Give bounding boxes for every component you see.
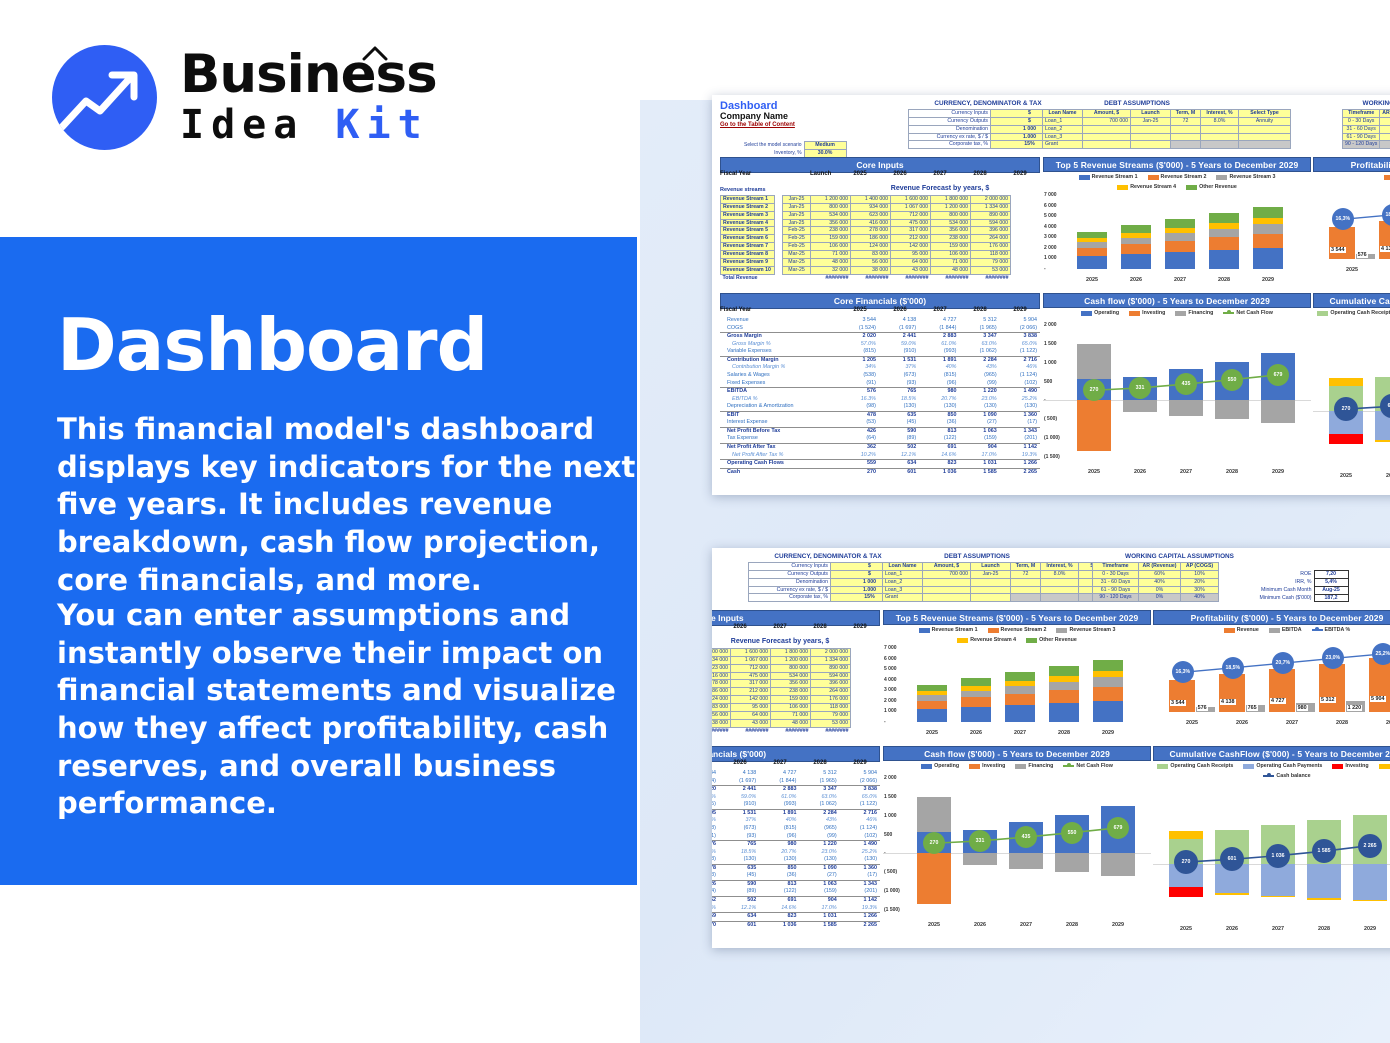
financial-value: 1 031 bbox=[799, 913, 839, 922]
kpi-label: Minimum Cash ($'000) bbox=[1252, 594, 1314, 602]
legend-swatch bbox=[1384, 175, 1390, 180]
fiscal-year-label-top: Fiscal Year bbox=[720, 171, 751, 177]
wc-cell[interactable]: 20% bbox=[1181, 578, 1219, 586]
revenue-stream-name[interactable]: Revenue Stream 2 bbox=[721, 203, 775, 211]
revenue-launch[interactable]: Mar-25 bbox=[783, 266, 811, 274]
revenue-value[interactable]: 43 000 bbox=[731, 719, 771, 727]
legend-label: Financing bbox=[1028, 763, 1053, 769]
revenue-value[interactable]: 159 000 bbox=[771, 696, 811, 704]
revenue-value[interactable]: 800 000 bbox=[931, 211, 971, 219]
debt-col-header: Amount, $ bbox=[923, 563, 971, 571]
kpi-value: 187,2 bbox=[1314, 594, 1348, 602]
total-revenue-row: Total Revenue###########################… bbox=[721, 274, 1011, 281]
revenue-launch[interactable]: Feb-25 bbox=[783, 243, 811, 251]
financial-value: 46% bbox=[1000, 364, 1040, 372]
revenue-value[interactable]: 534 000 bbox=[931, 219, 971, 227]
revenue-value[interactable]: 934 000 bbox=[712, 656, 731, 664]
financial-row: Variable Expenses(815)(910)(993)(1 062)(… bbox=[720, 348, 1040, 356]
ebitda-percent-bubble: 25,2% bbox=[1372, 643, 1390, 665]
revenue-value[interactable]: 934 000 bbox=[851, 203, 891, 211]
scenario-value[interactable]: Medium bbox=[804, 142, 846, 150]
stacked-bar-segment bbox=[1209, 213, 1239, 223]
revenue-value[interactable]: 1 800 000 bbox=[931, 196, 971, 204]
financial-value: 362 bbox=[712, 897, 719, 905]
background-white-bottom bbox=[0, 885, 640, 1043]
currency-label: Currency Inputs bbox=[749, 563, 831, 571]
debt-cell[interactable] bbox=[1171, 125, 1201, 133]
revenue-launch[interactable]: Jan-25 bbox=[783, 211, 811, 219]
revenue-value[interactable]: 623 000 bbox=[712, 664, 731, 672]
debt-cell[interactable] bbox=[1083, 141, 1131, 149]
revenue-value[interactable]: 594 000 bbox=[971, 219, 1011, 227]
revenue-launch[interactable]: Jan-25 bbox=[783, 196, 811, 204]
financial-value: 25.2% bbox=[1000, 396, 1040, 404]
revenue-stream-name[interactable]: Revenue Stream 5 bbox=[721, 227, 775, 235]
axis-category-label: 2027 bbox=[1009, 922, 1043, 928]
revenue-value[interactable]: 238 000 bbox=[811, 227, 851, 235]
financial-value: 3 347 bbox=[959, 333, 999, 341]
debt-cell[interactable] bbox=[1083, 125, 1131, 133]
financial-row: Contribution Margin1 2051 5311 8912 2842… bbox=[712, 809, 880, 817]
revenue-value[interactable]: 95 000 bbox=[731, 704, 771, 712]
wc-row: 90 - 120 Days0%40% bbox=[1093, 594, 1219, 602]
wc-cell[interactable]: 0% bbox=[1380, 133, 1390, 141]
legend-item: Revenue Stream 2 bbox=[1148, 174, 1207, 180]
revenue-launch[interactable]: Mar-25 bbox=[783, 258, 811, 266]
financial-row: Interest Expense(53)(45)(36)(27)(17) bbox=[712, 872, 880, 880]
wc-cell[interactable]: 40% bbox=[1380, 125, 1390, 133]
financial-value: 63.0% bbox=[959, 341, 999, 349]
wc-cell[interactable]: 90 - 120 Days bbox=[1343, 141, 1380, 149]
revenue-value[interactable]: 278 000 bbox=[712, 680, 731, 688]
revenue-value[interactable]: 1 334 000 bbox=[811, 656, 851, 664]
revenue-forecast-table: Revenue Stream 1Jan-251 200 0001 400 000… bbox=[720, 195, 1011, 281]
wc-cell[interactable]: 0% bbox=[1380, 141, 1390, 149]
revenue-value[interactable]: 95 000 bbox=[891, 251, 931, 259]
revenue-value[interactable]: 317 000 bbox=[731, 680, 771, 688]
debt-cell[interactable]: Grant bbox=[883, 594, 923, 602]
chart-cashflow-bottom: Cash flow ($'000) - 5 Years to December … bbox=[883, 746, 1151, 942]
financial-value: 1 360 bbox=[1000, 411, 1040, 419]
revenue-value[interactable]: 264 000 bbox=[971, 235, 1011, 243]
axis-category-label: 2026 bbox=[1379, 267, 1390, 273]
debt-cell[interactable] bbox=[1239, 133, 1291, 141]
revenue-value[interactable]: 1 800 000 bbox=[771, 649, 811, 657]
revenue-value[interactable]: 416 000 bbox=[851, 219, 891, 227]
year-header-row-bot: 20252026202720282029 bbox=[712, 624, 880, 630]
revenue-value[interactable]: 1 400 000 bbox=[851, 196, 891, 204]
wc-cell[interactable]: 61 - 90 Days bbox=[1093, 586, 1139, 594]
debt-cell[interactable]: Annuity bbox=[1239, 117, 1291, 125]
revenue-value[interactable]: 142 000 bbox=[731, 696, 771, 704]
revenue-value[interactable]: 124 000 bbox=[712, 696, 731, 704]
financial-value: 17.0% bbox=[799, 905, 839, 913]
revenue-forecast-title-b: Revenue Forecast by years, $ bbox=[712, 638, 880, 645]
revenue-value[interactable]: 83 000 bbox=[712, 704, 731, 712]
axis-category-label: 2027 bbox=[1261, 926, 1295, 932]
debt-cell[interactable] bbox=[1201, 133, 1239, 141]
axis-category-label: 2027 bbox=[1165, 277, 1195, 283]
axis-category-label: 2025 bbox=[1169, 926, 1203, 932]
debt-cell[interactable] bbox=[1201, 125, 1239, 133]
wc-cell[interactable]: 40% bbox=[1181, 594, 1219, 602]
debt-cell[interactable] bbox=[1171, 133, 1201, 141]
chart-plot: 8 0006 0004 0002 000-(2 000)(4 000)(6 00… bbox=[1153, 780, 1390, 932]
financial-value: 1 205 bbox=[712, 809, 719, 817]
debt-cell[interactable] bbox=[1011, 594, 1041, 602]
financial-value: 61.0% bbox=[759, 794, 799, 802]
axis-tick-label: 1 000 bbox=[1044, 255, 1057, 261]
wc-cell[interactable]: 10% bbox=[1181, 570, 1219, 578]
revenue-value[interactable]: 53 000 bbox=[811, 719, 851, 727]
debt-col-header: Loan Name bbox=[1043, 110, 1083, 118]
chart-title: Top 5 Revenue Streams ($'000) - 5 Years … bbox=[1043, 157, 1311, 172]
revenue-stream-name[interactable]: Revenue Stream 8 bbox=[721, 251, 775, 259]
debt-cell[interactable]: Jan-25 bbox=[971, 570, 1011, 578]
revenue-value[interactable]: 176 000 bbox=[971, 243, 1011, 251]
wc-cell[interactable]: 0 - 30 Days bbox=[1343, 117, 1380, 125]
revenue-value[interactable]: 118 000 bbox=[971, 251, 1011, 259]
revenue-value[interactable]: 38 000 bbox=[851, 266, 891, 274]
revenue-value[interactable]: 79 000 bbox=[971, 258, 1011, 266]
wc-cell[interactable]: 61 - 90 Days bbox=[1343, 133, 1380, 141]
stacked-bar-segment bbox=[1049, 703, 1079, 722]
legend-label: Revenue Stream 2 bbox=[1001, 627, 1047, 633]
debt-cell[interactable] bbox=[1171, 141, 1201, 149]
wc-cell[interactable]: 0% bbox=[1139, 586, 1181, 594]
revenue-value[interactable]: 317 000 bbox=[891, 227, 931, 235]
wc-cell[interactable]: 30% bbox=[1181, 586, 1219, 594]
debt-cell[interactable] bbox=[1083, 133, 1131, 141]
revenue-value[interactable]: 1 200 000 bbox=[931, 203, 971, 211]
debt-cell[interactable] bbox=[1131, 125, 1171, 133]
financial-value: 2 716 bbox=[840, 809, 880, 817]
revenue-value[interactable]: 475 000 bbox=[731, 672, 771, 680]
revenue-value[interactable]: 1 067 000 bbox=[731, 656, 771, 664]
revenue-value[interactable]: 278 000 bbox=[851, 227, 891, 235]
revenue-row: Revenue Stream 7Feb-25106 000124 000142 … bbox=[721, 243, 1011, 251]
financial-value: (53) bbox=[839, 419, 879, 427]
financial-value: 16.3% bbox=[839, 396, 879, 404]
debt-cell[interactable]: Loan_1 bbox=[1043, 117, 1083, 125]
stacked-bar-segment bbox=[1093, 677, 1123, 686]
axis-tick-label: - bbox=[1044, 266, 1046, 272]
revenue-value[interactable]: 416 000 bbox=[712, 672, 731, 680]
financial-value: 34% bbox=[839, 364, 879, 372]
financial-value: 1 220 bbox=[959, 388, 999, 396]
legend-swatch bbox=[1379, 764, 1390, 769]
revenue-value[interactable]: 56 000 bbox=[712, 711, 731, 719]
financial-row: Net Profit Before Tax4265908131 0631 343 bbox=[712, 880, 880, 888]
revenue-stream-name[interactable]: Revenue Stream 6 bbox=[721, 235, 775, 243]
debt-cell[interactable]: 8.0% bbox=[1201, 117, 1239, 125]
debt-cell[interactable]: Loan_2 bbox=[1043, 125, 1083, 133]
revenue-value[interactable]: 142 000 bbox=[891, 243, 931, 251]
debt-cell[interactable] bbox=[1011, 586, 1041, 594]
revenue-value[interactable]: 48 000 bbox=[931, 266, 971, 274]
revenue-value[interactable]: 594 000 bbox=[811, 672, 851, 680]
revenue-value[interactable]: 64 000 bbox=[891, 258, 931, 266]
debt-cell[interactable] bbox=[1131, 141, 1171, 149]
revenue-value[interactable]: 186 000 bbox=[851, 235, 891, 243]
debt-cell[interactable]: Loan_1 bbox=[883, 570, 923, 578]
axis-category-label: 2027 bbox=[1169, 469, 1203, 475]
legend-swatch bbox=[988, 628, 999, 633]
stacked-bar-segment bbox=[1005, 672, 1035, 681]
legend-item: Financing bbox=[1379, 763, 1390, 769]
revenue-value[interactable]: 106 000 bbox=[811, 243, 851, 251]
debt-cell[interactable] bbox=[923, 594, 971, 602]
fiscal-year-label-fin: Fiscal Year bbox=[720, 307, 751, 313]
legend-label: Revenue Stream 4 bbox=[970, 637, 1016, 643]
revenue-value[interactable]: 1 600 000 bbox=[891, 196, 931, 204]
stacked-bar-segment bbox=[1209, 229, 1239, 237]
stacked-bar-segment bbox=[1005, 686, 1035, 694]
revenue-value[interactable]: 1 200 000 bbox=[811, 196, 851, 204]
currency-label: Currency ex rate, $ / $ bbox=[749, 586, 831, 594]
revenue-stream-name[interactable]: Revenue Stream 1 bbox=[721, 196, 775, 204]
revenue-spacer bbox=[775, 266, 783, 274]
debt-cell[interactable] bbox=[923, 586, 971, 594]
legend-swatch bbox=[1312, 629, 1323, 631]
financial-value: 4 138 bbox=[719, 770, 759, 778]
debt-cell[interactable] bbox=[1239, 141, 1291, 149]
financial-value: 19.3% bbox=[840, 905, 880, 913]
revenue-value[interactable]: 71 000 bbox=[931, 258, 971, 266]
debt-cell[interactable]: 700 000 bbox=[923, 570, 971, 578]
wc-cell[interactable]: 40% bbox=[1139, 578, 1181, 586]
debt-cell[interactable] bbox=[923, 578, 971, 586]
financial-value: 1 036 bbox=[919, 468, 959, 476]
revenue-value[interactable]: 712 000 bbox=[891, 211, 931, 219]
debt-cell[interactable] bbox=[1201, 141, 1239, 149]
financial-value: (93) bbox=[719, 833, 759, 841]
axis-tick-label: - bbox=[884, 719, 886, 725]
revenue-value[interactable]: 712 000 bbox=[731, 664, 771, 672]
revenue-value[interactable]: 118 000 bbox=[811, 704, 851, 712]
debt-cell[interactable] bbox=[971, 586, 1011, 594]
revenue-value[interactable]: 238 000 bbox=[931, 235, 971, 243]
legend-label: Revenue Stream 4 bbox=[1130, 184, 1176, 190]
revenue-value[interactable]: 212 000 bbox=[891, 235, 931, 243]
revenue-value[interactable]: 890 000 bbox=[971, 211, 1011, 219]
axis-tick-label: 6 000 bbox=[1044, 203, 1057, 209]
debt-col-header: Interest, % bbox=[1201, 110, 1239, 118]
year-header: 2029 bbox=[840, 760, 880, 766]
financial-value: 3 838 bbox=[1000, 333, 1040, 341]
wc-cell[interactable]: 60% bbox=[1139, 570, 1181, 578]
revenue-value[interactable]: 396 000 bbox=[811, 680, 851, 688]
financial-value: 1 266 bbox=[840, 913, 880, 922]
revenue-value[interactable]: 800 000 bbox=[771, 664, 811, 672]
debt-cell[interactable] bbox=[1011, 578, 1041, 586]
debt-cell[interactable] bbox=[1041, 586, 1079, 594]
financial-value: 61.0% bbox=[919, 341, 959, 349]
debt-cell[interactable] bbox=[1041, 594, 1079, 602]
revenue-value[interactable]: 475 000 bbox=[891, 219, 931, 227]
debt-cell[interactable]: Jan-25 bbox=[1131, 117, 1171, 125]
axis-category-label: 2025 bbox=[1329, 473, 1363, 479]
total-revenue-value: ######## bbox=[731, 727, 771, 734]
revenue-stream-name[interactable]: Revenue Stream 10 bbox=[721, 266, 775, 274]
financial-value: (1 122) bbox=[840, 801, 880, 809]
revenue-value[interactable]: 238 000 bbox=[771, 688, 811, 696]
debt-cell[interactable] bbox=[971, 578, 1011, 586]
revenue-launch[interactable]: Jan-25 bbox=[783, 203, 811, 211]
debt-cell[interactable]: 700 000 bbox=[1083, 117, 1131, 125]
revenue-launch[interactable]: Feb-25 bbox=[783, 235, 811, 243]
revenue-launch[interactable]: Feb-25 bbox=[783, 227, 811, 235]
revenue-value[interactable]: 64 000 bbox=[731, 711, 771, 719]
revenue-row: Revenue Stream 2Jan-25800 000934 0001 06… bbox=[712, 656, 851, 664]
revenue-value[interactable]: 396 000 bbox=[971, 227, 1011, 235]
financial-value: 57.0% bbox=[712, 794, 719, 802]
financial-value: (130) bbox=[719, 856, 759, 864]
financial-label: Net Profit After Tax bbox=[720, 444, 839, 452]
financial-value: (93) bbox=[879, 380, 919, 388]
brand-line2-dark: Idea bbox=[180, 102, 335, 148]
wc-row: 0 - 30 Days60%10% bbox=[1343, 117, 1390, 125]
financial-value: (1 697) bbox=[879, 325, 919, 333]
financial-value: (98) bbox=[839, 403, 879, 411]
revenue-value[interactable]: 32 000 bbox=[811, 266, 851, 274]
wc-cell[interactable]: 31 - 60 Days bbox=[1093, 578, 1139, 586]
revenue-value[interactable]: 534 000 bbox=[811, 211, 851, 219]
revenue-launch[interactable]: Mar-25 bbox=[783, 251, 811, 259]
revenue-value[interactable]: 106 000 bbox=[771, 704, 811, 712]
financial-label: EBIT bbox=[720, 411, 839, 419]
revenue-value[interactable]: 71 000 bbox=[771, 711, 811, 719]
financial-value: 37% bbox=[719, 817, 759, 825]
stacked-bar-segment bbox=[961, 678, 991, 686]
revenue-value[interactable]: 124 000 bbox=[851, 243, 891, 251]
year-header: 2026 bbox=[880, 171, 920, 177]
revenue-value[interactable]: 43 000 bbox=[891, 266, 931, 274]
financial-row: Operating Cash Flows5596348231 0311 266 bbox=[720, 460, 1040, 469]
wc-cell[interactable]: 60% bbox=[1380, 117, 1390, 125]
axis-category-label: 2026 bbox=[963, 922, 997, 928]
financial-value: (45) bbox=[879, 419, 919, 427]
debt-cell[interactable]: Loan_3 bbox=[883, 586, 923, 594]
revenue-value[interactable]: 356 000 bbox=[811, 219, 851, 227]
revenue-value[interactable]: 48 000 bbox=[771, 719, 811, 727]
revenue-value[interactable]: 1 600 000 bbox=[731, 649, 771, 657]
debt-cell[interactable]: 8.0% bbox=[1041, 570, 1079, 578]
revenue-value[interactable]: 56 000 bbox=[851, 258, 891, 266]
financial-value: (538) bbox=[839, 372, 879, 380]
revenue-value[interactable]: 71 000 bbox=[811, 251, 851, 259]
chart-profitability-bottom: Profitability ($'000) - 5 Years to Decem… bbox=[1153, 610, 1390, 742]
revenue-value[interactable]: 38 000 bbox=[712, 719, 731, 727]
financial-value: 559 bbox=[712, 913, 719, 922]
debt-cell[interactable] bbox=[1131, 133, 1171, 141]
revenue-value[interactable]: 106 000 bbox=[931, 251, 971, 259]
toc-link[interactable]: Go to the Table of Content bbox=[720, 122, 795, 128]
financial-label: COGS bbox=[720, 325, 839, 333]
revenue-launch[interactable]: Jan-25 bbox=[783, 219, 811, 227]
revenue-value[interactable]: 1 067 000 bbox=[891, 203, 931, 211]
revenue-value[interactable]: 356 000 bbox=[931, 227, 971, 235]
kpi-table: ROE7,20IRR, %5,4%Minimum Cash MonthAug-2… bbox=[1252, 570, 1349, 602]
debt-col-header: Select Type bbox=[1239, 110, 1291, 118]
debt-cell[interactable]: 72 bbox=[1011, 570, 1041, 578]
revenue-row: Revenue Stream 3Jan-25534 000623 000712 … bbox=[721, 211, 1011, 219]
revenue-value[interactable]: 79 000 bbox=[811, 711, 851, 719]
wc-cell[interactable]: 90 - 120 Days bbox=[1093, 594, 1139, 602]
debt-cell[interactable]: 72 bbox=[1171, 117, 1201, 125]
debt-cell[interactable]: Grant bbox=[1043, 141, 1083, 149]
cash-balance-bubble: 1 585 bbox=[1312, 839, 1336, 863]
revenue-stream-name[interactable]: Revenue Stream 7 bbox=[721, 243, 775, 251]
wc-cell[interactable]: 0% bbox=[1139, 594, 1181, 602]
debt-cell[interactable]: Loan_3 bbox=[1043, 133, 1083, 141]
revenue-value[interactable]: 83 000 bbox=[851, 251, 891, 259]
revenue-value[interactable]: 890 000 bbox=[811, 664, 851, 672]
revenue-stream-name[interactable]: Revenue Stream 3 bbox=[721, 211, 775, 219]
ebitda-percent-bubble: 16,3% bbox=[1172, 661, 1194, 683]
legend-swatch bbox=[1079, 175, 1090, 180]
revenue-stream-name[interactable]: Revenue Stream 9 bbox=[721, 258, 775, 266]
financial-value: 34% bbox=[712, 817, 719, 825]
revenue-value[interactable]: 2 000 000 bbox=[971, 196, 1011, 204]
financial-value: 63.0% bbox=[799, 794, 839, 802]
legend-item: Revenue Stream 1 bbox=[919, 627, 978, 633]
financial-value: 1 343 bbox=[1000, 427, 1040, 435]
debt-cell[interactable] bbox=[1041, 578, 1079, 586]
revenue-value[interactable]: 159 000 bbox=[931, 243, 971, 251]
net-cash-flow-bubble: 331 bbox=[1129, 377, 1151, 399]
revenue-value[interactable]: 186 000 bbox=[712, 688, 731, 696]
revenue-value[interactable]: 623 000 bbox=[851, 211, 891, 219]
legend-swatch bbox=[1186, 185, 1197, 190]
financial-value: (1 844) bbox=[759, 778, 799, 786]
financial-value: (815) bbox=[919, 372, 959, 380]
revenue-stream-name[interactable]: Revenue Stream 4 bbox=[721, 219, 775, 227]
revenue-spacer bbox=[775, 219, 783, 227]
legend-item: Financing bbox=[1175, 310, 1213, 316]
revenue-value[interactable]: 48 000 bbox=[811, 258, 851, 266]
chart-title: Cash flow ($'000) - 5 Years to December … bbox=[883, 746, 1151, 761]
revenue-row: Revenue Stream 8Mar-2571 00083 00095 000… bbox=[712, 704, 851, 712]
revenue-row: Revenue Stream 3Jan-25534 000623 000712 … bbox=[712, 664, 851, 672]
revenue-value[interactable]: 212 000 bbox=[731, 688, 771, 696]
financial-row: Cash2706011 0361 5852 265 bbox=[720, 468, 1040, 476]
revenue-value[interactable]: 800 000 bbox=[811, 203, 851, 211]
year-header-row-top: 20252026202720282029 bbox=[840, 171, 1040, 177]
revenue-value[interactable]: 2 000 000 bbox=[811, 649, 851, 657]
revenue-value[interactable]: 1 200 000 bbox=[771, 656, 811, 664]
revenue-value[interactable]: 356 000 bbox=[771, 680, 811, 688]
debt-cell[interactable]: Loan_2 bbox=[883, 578, 923, 586]
revenue-value[interactable]: 534 000 bbox=[771, 672, 811, 680]
revenue-value[interactable]: 176 000 bbox=[811, 696, 851, 704]
wc-cell[interactable]: 31 - 60 Days bbox=[1343, 125, 1380, 133]
total-revenue-label: Total Revenue bbox=[721, 274, 775, 281]
wc-col-header: AP (COGS) bbox=[1181, 563, 1219, 571]
debt-cell[interactable] bbox=[1239, 125, 1291, 133]
revenue-value[interactable]: 53 000 bbox=[971, 266, 1011, 274]
revenue-value[interactable]: 159 000 bbox=[811, 235, 851, 243]
wc-cell[interactable]: 0 - 30 Days bbox=[1093, 570, 1139, 578]
debt-cell[interactable] bbox=[971, 594, 1011, 602]
legend-item: Revenue Stream 4 bbox=[957, 637, 1016, 643]
revenue-value[interactable]: 1 334 000 bbox=[971, 203, 1011, 211]
chart-title: Cumulative CashFlow ($'000) - 5 Years to… bbox=[1313, 293, 1390, 308]
total-revenue-value: ######## bbox=[811, 727, 851, 734]
revenue-value[interactable]: 1 400 000 bbox=[712, 649, 731, 657]
wc-col-header: AR (Revenue) bbox=[1380, 110, 1390, 118]
revenue-value[interactable]: 264 000 bbox=[811, 688, 851, 696]
